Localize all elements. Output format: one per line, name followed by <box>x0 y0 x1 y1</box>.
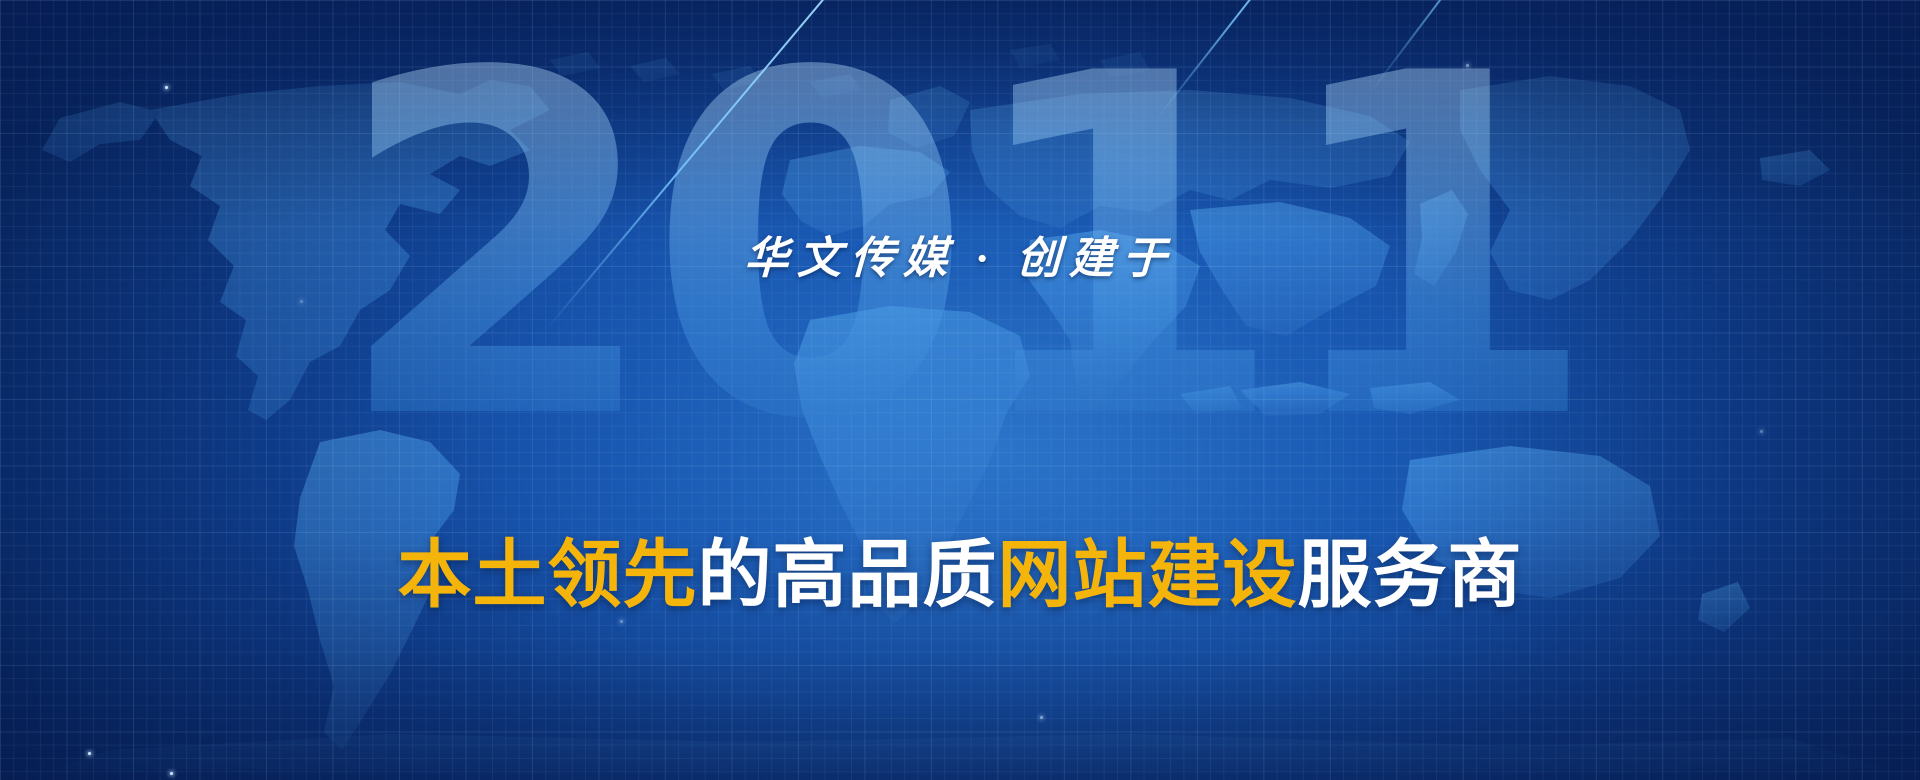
headline-segment-1: 本土领先 <box>398 532 698 618</box>
star-dot-icon <box>88 752 91 755</box>
star-dot-icon <box>300 300 303 303</box>
hero-banner: 2011 华文传媒 · 创建于 本土领先的高品质网站建设服务商 <box>0 0 1920 780</box>
page-title: 本土领先的高品质网站建设服务商 <box>0 538 1920 612</box>
grid-texture-coarse <box>0 0 1920 780</box>
tagline: 华文传媒 · 创建于 <box>0 222 1920 286</box>
headline-segment-2: 的高品质 <box>698 532 998 618</box>
headline-segment-3: 网站建设 <box>998 532 1298 618</box>
star-dot-icon <box>1466 64 1469 67</box>
star-dot-icon <box>620 620 623 623</box>
headline-segment-4: 服务商 <box>1298 532 1523 618</box>
star-dot-icon <box>170 772 173 775</box>
star-dot-icon <box>165 86 168 89</box>
star-dot-icon <box>1760 430 1763 433</box>
star-dot-icon <box>1040 716 1043 719</box>
